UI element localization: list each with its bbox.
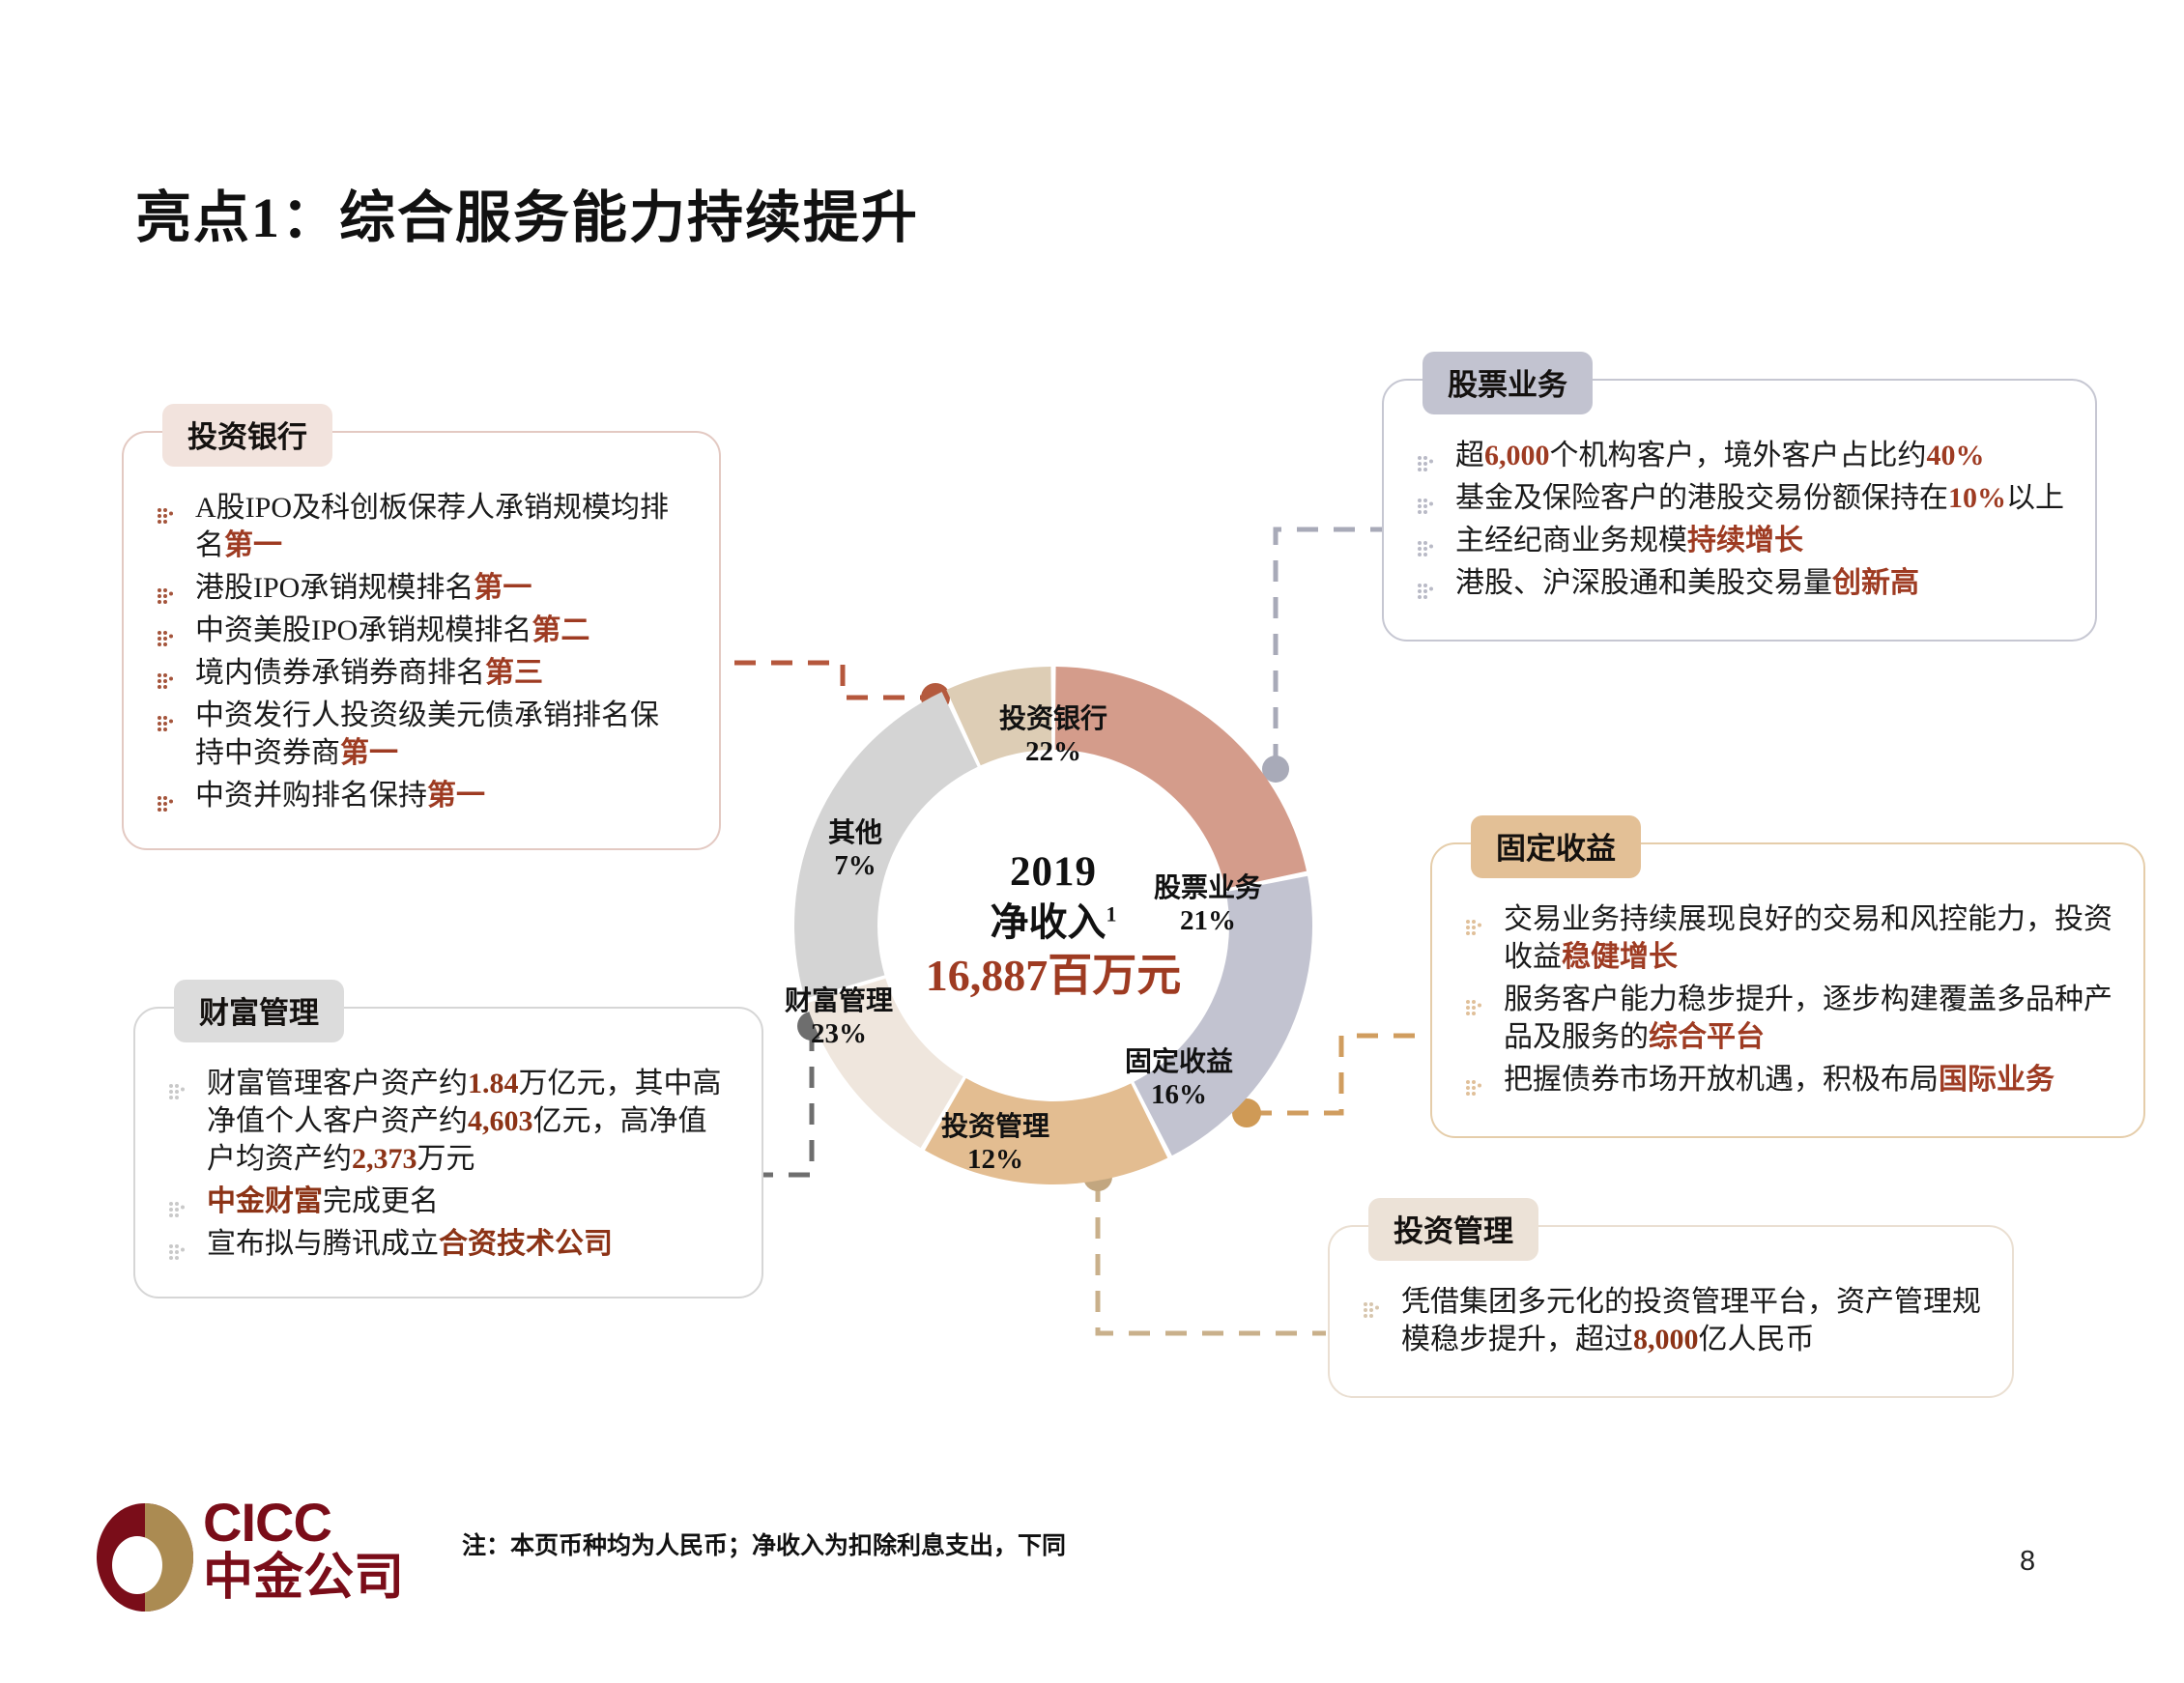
list-item-text: 中金财富完成更名: [207, 1185, 439, 1217]
list-item-text: 中资美股IPO承销规模排名第二: [195, 614, 589, 646]
list-item: 超6,000个机构客户，境外客户占比约40%: [1413, 437, 2066, 474]
plain-text: 中资美股IPO承销规模排名: [195, 614, 532, 646]
slice-category: 投资管理: [879, 1111, 1111, 1143]
donut-slice-1[interactable]: [1055, 667, 1307, 889]
cicc-logo-text: CICC 中金公司: [203, 1496, 404, 1605]
plain-text: 港股、沪深股通和美股交易量: [1455, 567, 1832, 599]
highlight-text: 2,373: [352, 1143, 417, 1175]
chevron-dots-icon: [157, 622, 178, 643]
list-item-text: 基金及保险客户的港股交易份额保持在10%以上: [1455, 482, 2064, 514]
highlight-text: 中金财富: [207, 1185, 323, 1217]
chevron-dots-icon: [1465, 911, 1486, 932]
list-item: 服务客户能力稳步提升，逐步构建覆盖多品种产品及服务的综合平台: [1461, 981, 2116, 1056]
plain-text: 财富管理客户资产约: [207, 1068, 468, 1099]
page-title: 亮点1：综合服务能力持续提升: [135, 172, 919, 253]
logo-chinese: 中金公司: [203, 1552, 404, 1605]
highlight-text: 第一: [474, 572, 532, 604]
list-item: 港股、沪深股通和美股交易量创新高: [1413, 564, 2066, 602]
list-item-text: 港股IPO承销规模排名第一: [195, 572, 532, 604]
slice-percent: 21%: [1063, 904, 1353, 937]
plain-text: 主经纪商业务规模: [1455, 525, 1687, 556]
plain-text: 基金及保险客户的港股交易份额保持在: [1455, 482, 1948, 514]
list-item: 基金及保险客户的港股交易份额保持在10%以上: [1413, 479, 2066, 517]
revenue-donut-chart: 2019 净收入1 16,887百万元 投资银行22%股票业务21%固定收益16…: [773, 645, 1334, 1206]
highlight-text: 10%: [1948, 482, 2006, 514]
highlight-text: 8,000: [1633, 1324, 1699, 1355]
card-investment-management-tag: 投资管理: [1368, 1198, 1538, 1261]
chevron-dots-icon: [157, 665, 178, 686]
list-item-text: A股IPO及科创板保荐人承销规模均排名第一: [195, 492, 669, 561]
plain-text: 完成更名: [323, 1185, 439, 1217]
list-item-text: 宣布拟与腾讯成立合资技术公司: [207, 1228, 613, 1260]
highlight-text: 综合平台: [1649, 1021, 1765, 1053]
chevron-dots-icon: [1417, 532, 1438, 554]
highlight-text: 6,000: [1484, 440, 1550, 471]
card-investment-banking-list: A股IPO及科创板保荐人承销规模均排名第一港股IPO承销规模排名第一中资美股IP…: [153, 489, 686, 814]
highlight-text: 40%: [1927, 440, 1985, 471]
list-item: 凭借集团多元化的投资管理平台，资产管理规模稳步提升，超过8,000亿人民币: [1359, 1283, 1983, 1358]
donut-label-4: 投资管理12%: [879, 1111, 1111, 1176]
plain-text: 以上: [2006, 482, 2064, 514]
card-fixed-income-tag: 固定收益: [1471, 815, 1641, 878]
highlight-text: 创新高: [1832, 567, 1919, 599]
donut-label-1: 投资银行22%: [908, 703, 1198, 768]
list-item: 港股IPO承销规模排名第一: [153, 569, 686, 607]
list-item-text: 主经纪商业务规模持续增长: [1455, 525, 1803, 556]
logo-latin: CICC: [203, 1496, 404, 1550]
highlight-text: 稳健增长: [1562, 941, 1678, 973]
list-item-text: 境内债券承销券商排名第三: [195, 657, 543, 689]
card-investment-management-list: 凭借集团多元化的投资管理平台，资产管理规模稳步提升，超过8,000亿人民币: [1359, 1283, 1983, 1358]
slice-percent: 16%: [1044, 1078, 1314, 1111]
chevron-dots-icon: [157, 787, 178, 809]
slice-category: 财富管理: [723, 985, 955, 1017]
highlight-text: 第一: [224, 529, 282, 561]
list-item-text: 财富管理客户资产约1.84万亿元，其中高净值个人客户资产约4,603亿元，高净值…: [207, 1068, 722, 1175]
chevron-dots-icon: [168, 1236, 189, 1257]
chevron-dots-icon: [1465, 991, 1486, 1013]
plain-text: 中资发行人投资级美元债承销排名保持中资券商: [195, 699, 659, 769]
card-investment-banking-tag: 投资银行: [162, 404, 332, 467]
plain-text: 超: [1455, 440, 1484, 471]
donut-label-3: 固定收益16%: [1044, 1046, 1314, 1111]
list-item-text: 港股、沪深股通和美股交易量创新高: [1455, 567, 1919, 599]
slice-percent: 22%: [908, 735, 1198, 768]
highlight-text: 第一: [427, 780, 485, 812]
list-item: 把握债券市场开放机遇，积极布局国际业务: [1461, 1061, 2116, 1098]
slice-percent: 12%: [879, 1143, 1111, 1176]
chevron-dots-icon: [157, 580, 178, 601]
list-item: 中资并购排名保持第一: [153, 777, 686, 814]
list-item: 宣布拟与腾讯成立合资技术公司: [164, 1225, 733, 1263]
card-equity-tag: 股票业务: [1422, 352, 1593, 414]
list-item: 交易业务持续展现良好的交易和风控能力，投资收益稳健增长: [1461, 900, 2116, 976]
donut-label-2: 股票业务21%: [1063, 872, 1353, 937]
list-item-text: 把握债券市场开放机遇，积极布局国际业务: [1504, 1064, 2055, 1096]
card-wealth-management: 财富管理 财富管理客户资产约1.84万亿元，其中高净值个人客户资产约4,603亿…: [133, 1007, 763, 1298]
donut-label-6: 其他7%: [768, 817, 942, 882]
plain-text: 服务客户能力稳步提升，逐步构建覆盖多品种产品及服务的: [1504, 984, 2112, 1053]
highlight-text: 第三: [485, 657, 543, 689]
chevron-dots-icon: [168, 1193, 189, 1214]
plain-text: 把握债券市场开放机遇，积极布局: [1504, 1064, 1939, 1096]
chevron-dots-icon: [1417, 575, 1438, 596]
slice-category: 股票业务: [1063, 872, 1353, 904]
highlight-text: 第一: [340, 737, 398, 769]
list-item-text: 超6,000个机构客户，境外客户占比约40%: [1455, 440, 1985, 471]
plain-text: 宣布拟与腾讯成立: [207, 1228, 439, 1260]
list-item: 中资发行人投资级美元债承销排名保持中资券商第一: [153, 697, 686, 772]
slice-category: 投资银行: [908, 703, 1198, 735]
plain-text: 中资并购排名保持: [195, 780, 427, 812]
card-wealth-management-list: 财富管理客户资产约1.84万亿元，其中高净值个人客户资产约4,603亿元，高净值…: [164, 1065, 733, 1263]
plain-text: 港股IPO承销规模排名: [195, 572, 474, 604]
card-fixed-income-list: 交易业务持续展现良好的交易和风控能力，投资收益稳健增长服务客户能力稳步提升，逐步…: [1461, 900, 2116, 1098]
highlight-text: 持续增长: [1687, 525, 1803, 556]
list-item-text: 服务客户能力稳步提升，逐步构建覆盖多品种产品及服务的综合平台: [1504, 984, 2112, 1053]
list-item: 主经纪商业务规模持续增长: [1413, 522, 2066, 559]
highlight-text: 合资技术公司: [439, 1228, 613, 1260]
highlight-text: 国际业务: [1939, 1064, 2055, 1096]
chevron-dots-icon: [157, 499, 178, 521]
list-item-text: 中资发行人投资级美元债承销排名保持中资券商第一: [195, 699, 659, 769]
highlight-text: 4,603: [468, 1105, 533, 1137]
list-item: 财富管理客户资产约1.84万亿元，其中高净值个人客户资产约4,603亿元，高净值…: [164, 1065, 733, 1178]
card-investment-management: 投资管理 凭借集团多元化的投资管理平台，资产管理规模稳步提升，超过8,000亿人…: [1328, 1225, 2014, 1398]
list-item-text: 凭借集团多元化的投资管理平台，资产管理规模稳步提升，超过8,000亿人民币: [1401, 1286, 1981, 1355]
card-wealth-management-tag: 财富管理: [174, 980, 344, 1042]
plain-text: 境内债券承销券商排名: [195, 657, 485, 689]
chevron-dots-icon: [157, 707, 178, 728]
page-number: 8: [2020, 1546, 2035, 1578]
footnote: 注：本页币种均为人民币；净收入为扣除利息支出，下同: [462, 1526, 1066, 1561]
highlight-text: 第二: [532, 614, 589, 646]
slice-percent: 7%: [768, 849, 942, 882]
slice-category: 固定收益: [1044, 1046, 1314, 1078]
plain-text: 个机构客户，境外客户占比约: [1550, 440, 1927, 471]
chevron-dots-icon: [1417, 490, 1438, 511]
list-item-text: 中资并购排名保持第一: [195, 780, 485, 812]
list-item: A股IPO及科创板保荐人承销规模均排名第一: [153, 489, 686, 564]
chevron-dots-icon: [1363, 1294, 1384, 1315]
card-fixed-income: 固定收益 交易业务持续展现良好的交易和风控能力，投资收益稳健增长服务客户能力稳步…: [1430, 842, 2145, 1138]
plain-text: 万元: [417, 1143, 475, 1175]
card-equity-list: 超6,000个机构客户，境外客户占比约40%基金及保险客户的港股交易份额保持在1…: [1413, 437, 2066, 602]
list-item: 中资美股IPO承销规模排名第二: [153, 612, 686, 649]
slice-category: 其他: [768, 817, 942, 849]
chevron-dots-icon: [1465, 1071, 1486, 1093]
card-equity: 股票业务 超6,000个机构客户，境外客户占比约40%基金及保险客户的港股交易份…: [1382, 379, 2097, 642]
plain-text: 亿人民币: [1699, 1324, 1815, 1355]
card-investment-banking: 投资银行 A股IPO及科创板保荐人承销规模均排名第一港股IPO承销规模排名第一中…: [122, 431, 721, 850]
chevron-dots-icon: [1417, 447, 1438, 469]
chevron-dots-icon: [168, 1075, 189, 1097]
list-item: 境内债券承销券商排名第三: [153, 654, 686, 692]
list-item-text: 交易业务持续展现良好的交易和风控能力，投资收益稳健增长: [1504, 903, 2112, 973]
list-item: 中金财富完成更名: [164, 1183, 733, 1220]
highlight-text: 1.84: [468, 1068, 519, 1099]
